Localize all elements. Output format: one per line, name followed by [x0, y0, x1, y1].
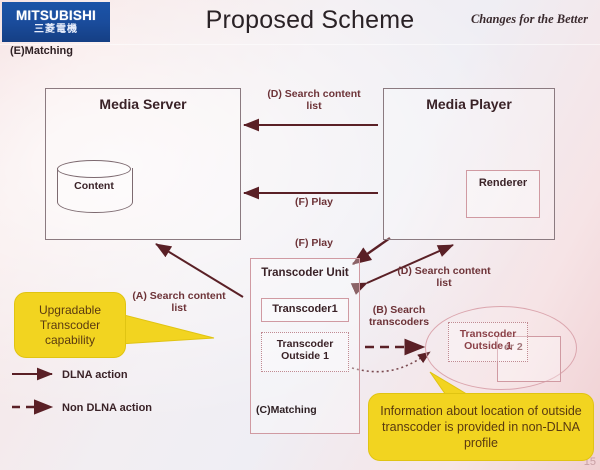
legend-non-dlna-action-label: Non DLNA action	[62, 402, 152, 414]
transcoder-matching-label: (C)Matching	[256, 404, 317, 416]
transcoder-outside1-remote-box: Transcoder Outside 1	[448, 322, 528, 362]
logo-kanji: 三菱電機	[34, 24, 78, 36]
mitsubishi-logo: MITSUBISHI 三菱電機	[2, 2, 110, 42]
transcoder-unit-title: Transcoder Unit	[251, 267, 359, 280]
page-title: Proposed Scheme	[180, 6, 440, 35]
content-database-cylinder: Content	[57, 160, 131, 218]
label-b-search-transcoders: (B) Search transcoders	[352, 304, 446, 328]
callout-outside-transcoder-info: Information about location of outside tr…	[368, 393, 594, 461]
label-d-search-bottom: (D) Search content list	[392, 265, 496, 289]
slide-canvas: MITSUBISHI 三菱電機 Proposed Scheme Changes …	[0, 0, 600, 470]
transcoder-outside1-remote-title: Transcoder Outside 1	[449, 328, 527, 352]
logo-wordmark: MITSUBISHI	[16, 9, 96, 23]
label-f-play-diagonal: (F) Play	[272, 237, 356, 249]
brand-tagline: Changes for the Better	[471, 12, 588, 27]
cylinder-top	[57, 160, 131, 178]
renderer-title: Renderer	[467, 177, 539, 189]
header-divider	[0, 44, 600, 45]
label-a-search: (A) Search content list	[126, 290, 232, 314]
legend-dlna-action-label: DLNA action	[62, 369, 128, 381]
transcoder1-box: Transcoder1	[261, 298, 349, 322]
label-d-search-top: (D) Search content list	[262, 88, 366, 112]
media-server-title: Media Server	[46, 96, 240, 112]
callout-upgradable-transcoder: Upgradable Transcoder capability	[14, 292, 126, 358]
renderer-box: Renderer	[466, 170, 540, 218]
transcoder-outside1-box: Transcoder Outside 1	[261, 332, 349, 372]
callout-bottom-text: Information about location of outside tr…	[375, 403, 587, 451]
label-f-play-horizontal: (F) Play	[272, 196, 356, 208]
content-label: Content	[57, 180, 131, 192]
media-player-title: Media Player	[384, 96, 554, 112]
transcoder1-title: Transcoder1	[262, 303, 348, 315]
transcoder-outside1-title: Transcoder Outside 1	[262, 338, 348, 362]
callout-left-text: Upgradable Transcoder capability	[19, 303, 121, 348]
player-matching-label: (E)Matching	[10, 45, 73, 57]
